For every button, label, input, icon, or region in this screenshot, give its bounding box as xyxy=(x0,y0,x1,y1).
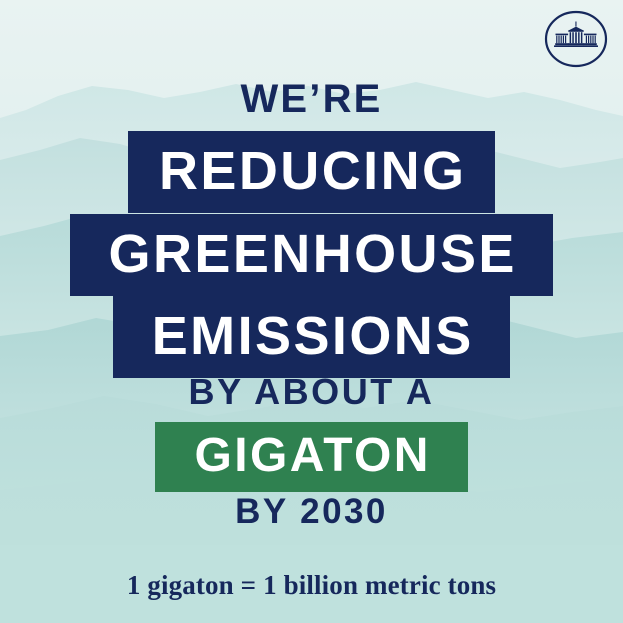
headline-line-emissions: EMISSIONS xyxy=(113,296,510,378)
headline-line-by-about-a: BY ABOUT A xyxy=(0,374,623,410)
headline-line-greenhouse: GREENHOUSE xyxy=(70,214,553,296)
headline-stack: WE’RE REDUCING GREENHOUSE EMISSIONS BY A… xyxy=(0,0,623,623)
headline-line-by-2030: BY 2030 xyxy=(0,494,623,529)
footnote-text: 1 gigaton = 1 billion metric tons xyxy=(0,570,623,601)
climate-emissions-poster: WE’RE REDUCING GREENHOUSE EMISSIONS BY A… xyxy=(0,0,623,623)
headline-line-were: WE’RE xyxy=(0,79,623,119)
headline-line-reducing: REDUCING xyxy=(128,131,495,213)
headline-line-gigaton: GIGATON xyxy=(155,422,468,492)
